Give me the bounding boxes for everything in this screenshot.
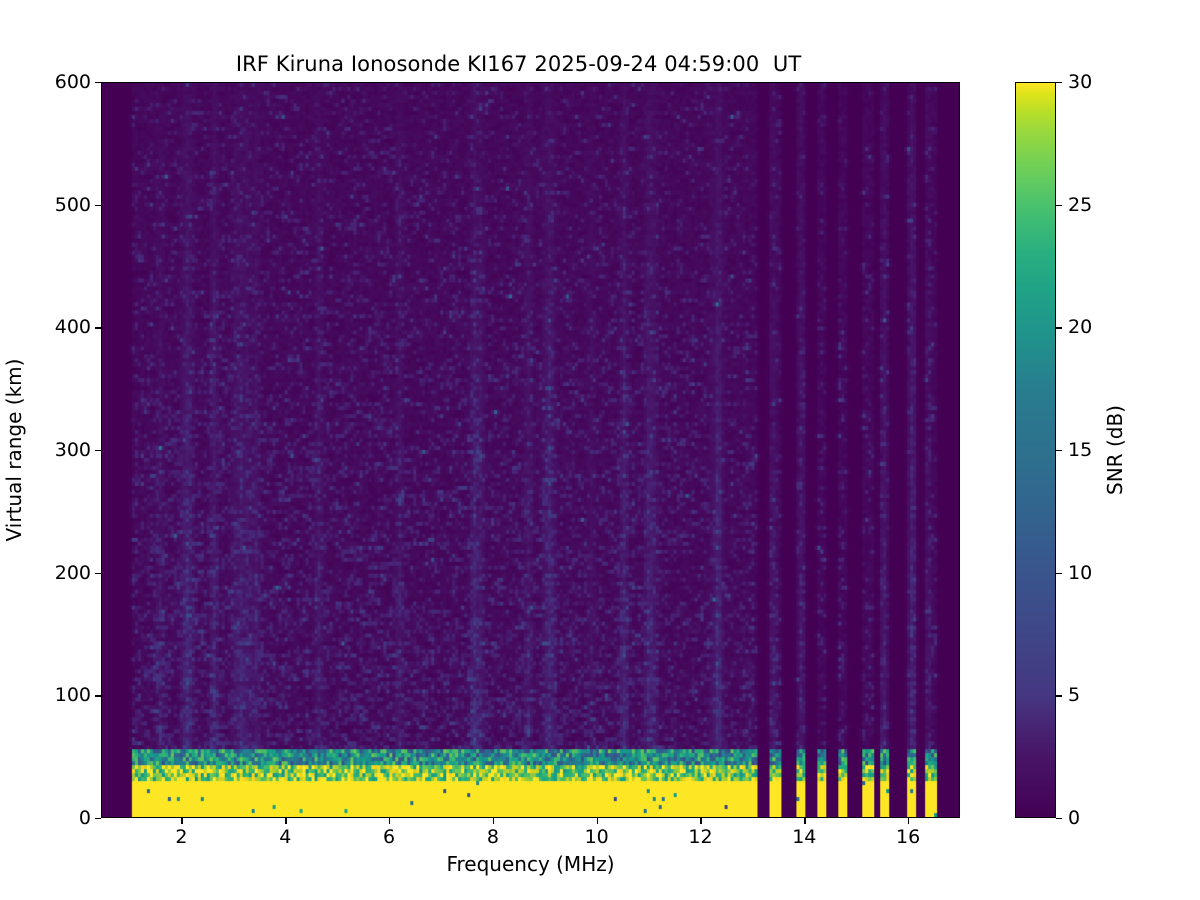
x-tick-label: 6 <box>383 826 395 848</box>
colorbar-tick-label: 10 <box>1068 562 1092 584</box>
colorbar-tick-mark <box>1056 818 1062 819</box>
colorbar-tick-label: 5 <box>1068 684 1080 706</box>
x-tick-mark <box>389 818 390 824</box>
y-tick-label: 500 <box>55 194 91 216</box>
colorbar-tick-mark <box>1056 450 1062 451</box>
y-tick-label: 300 <box>55 439 91 461</box>
ionogram-figure: IRF Kiruna Ionosonde KI167 2025-09-24 04… <box>0 0 1200 900</box>
colorbar-tick-mark <box>1056 327 1062 328</box>
x-tick-label: 8 <box>487 826 499 848</box>
colorbar-tick-label: 20 <box>1068 316 1092 338</box>
x-tick-label: 12 <box>688 826 712 848</box>
colorbar-tick-label: 15 <box>1068 439 1092 461</box>
x-tick-mark <box>597 818 598 824</box>
title-line-1: IRF Kiruna Ionosonde KI167 2025-09-24 04… <box>236 52 801 76</box>
x-tick-mark <box>285 818 286 824</box>
y-tick-label: 0 <box>79 807 91 829</box>
ionogram-plot-area[interactable] <box>101 82 960 818</box>
x-tick-label: 2 <box>175 826 187 848</box>
x-tick-mark <box>908 818 909 824</box>
y-tick-mark <box>95 82 101 83</box>
colorbar-tick-mark <box>1056 82 1062 83</box>
x-tick-mark <box>700 818 701 824</box>
colorbar-tick-label: 25 <box>1068 194 1092 216</box>
y-tick-mark <box>95 327 101 328</box>
y-tick-label: 200 <box>55 562 91 584</box>
colorbar-tick-label: 0 <box>1068 807 1080 829</box>
y-tick-mark <box>95 450 101 451</box>
colorbar-label: SNR (dB) <box>1103 405 1127 495</box>
colorbar-tick-mark <box>1056 573 1062 574</box>
colorbar-tick-mark <box>1056 205 1062 206</box>
y-tick-mark <box>95 695 101 696</box>
ionogram-heatmap-canvas <box>102 83 959 817</box>
x-axis-label: Frequency (MHz) <box>101 852 960 876</box>
y-tick-mark <box>95 573 101 574</box>
x-tick-label: 4 <box>279 826 291 848</box>
x-tick-mark <box>804 818 805 824</box>
x-tick-label: 10 <box>585 826 609 848</box>
y-tick-label: 100 <box>55 684 91 706</box>
x-tick-label: 16 <box>896 826 920 848</box>
colorbar-tick-mark <box>1056 695 1062 696</box>
colorbar-ticks: 051015202530 <box>1015 82 1056 818</box>
y-tick-label: 400 <box>55 316 91 338</box>
y-tick-mark <box>95 205 101 206</box>
colorbar-tick-label: 30 <box>1068 71 1092 93</box>
x-tick-label: 14 <box>792 826 816 848</box>
y-tick-mark <box>95 818 101 819</box>
y-tick-label: 600 <box>55 71 91 93</box>
x-tick-mark <box>181 818 182 824</box>
x-tick-mark <box>493 818 494 824</box>
y-axis-label: Virtual range (km) <box>2 359 26 542</box>
